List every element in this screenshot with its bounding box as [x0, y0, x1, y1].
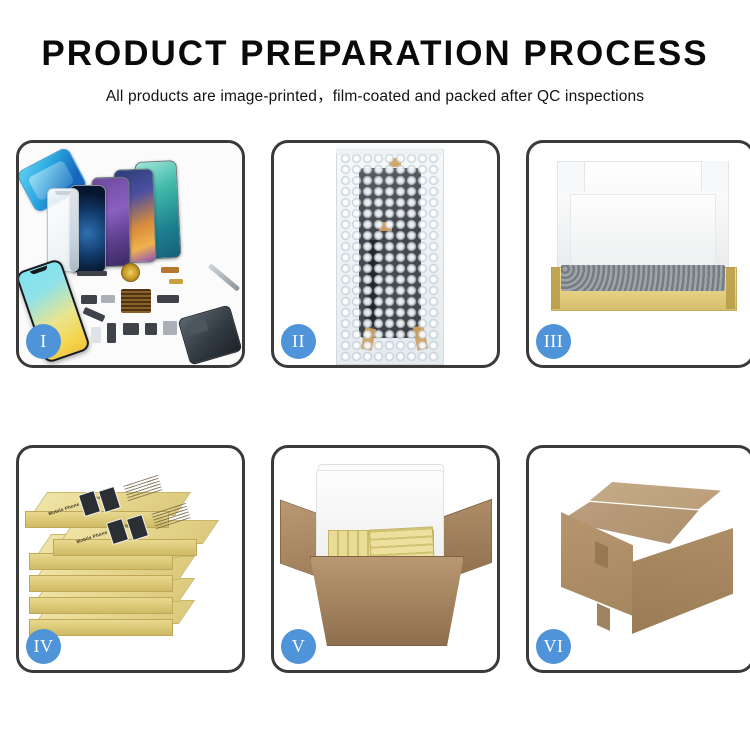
box-front-face: [29, 575, 173, 592]
process-steps-grid: I II: [16, 140, 738, 690]
part-strip-1: [77, 271, 107, 276]
part-connector-2: [169, 279, 183, 284]
bubble-texture: [340, 153, 440, 361]
retail-box-stack: Mobile Phone Spare Parts Mobile Phone Sp…: [33, 474, 233, 650]
step-panel-5: V: [271, 445, 500, 673]
part-flex-2: [157, 295, 179, 303]
part-camera: [123, 323, 139, 335]
step-badge-3: III: [536, 324, 571, 359]
sealed-carton: [543, 482, 739, 632]
box-front-face: [25, 511, 169, 528]
step-panel-6: VI: [526, 445, 750, 673]
step-badge-4: IV: [26, 629, 61, 664]
part-button: [145, 323, 157, 335]
spare-parts-layout: [77, 261, 237, 361]
box-front-face: [53, 539, 197, 556]
bubble-wrapped-contents: [561, 265, 725, 291]
part-sim-tray: [91, 327, 101, 343]
logic-board-part: [121, 289, 151, 313]
step-badge-1: I: [26, 324, 61, 359]
page-subtitle: All products are image-printed，film-coat…: [0, 84, 750, 106]
part-module-2: [101, 295, 115, 303]
carton-right-face: [632, 528, 733, 634]
step-panel-4: Mobile Phone Spare Parts Mobile Phone Sp…: [16, 445, 245, 673]
step-panel-1: I: [16, 140, 245, 368]
product-preparation-infographic: PRODUCT PREPARATION PROCESS All products…: [0, 0, 750, 750]
inner-box-corner-left: [551, 267, 560, 309]
bubble-wrap-bag: [336, 149, 444, 365]
tweezers-tool: [208, 263, 240, 291]
step-badge-6: VI: [536, 629, 571, 664]
part-flex-1: [83, 307, 106, 322]
part-connector-1: [161, 267, 179, 273]
outer-carton-open: [310, 556, 464, 646]
phone-back-housing: [177, 304, 242, 365]
part-flex-3: [107, 323, 116, 343]
step-badge-5: V: [281, 629, 316, 664]
part-module-1: [81, 295, 97, 304]
speaker-coil-part: [121, 263, 140, 282]
step-badge-2: II: [281, 324, 316, 359]
carton-tape-2: [597, 603, 610, 631]
inner-box-corner-right: [726, 267, 735, 309]
inner-box-lid-flap-right: [701, 161, 728, 191]
box-front-face: [29, 597, 173, 614]
step-panel-2: II: [271, 140, 500, 368]
part-vibrator: [163, 321, 177, 335]
header: PRODUCT PREPARATION PROCESS All products…: [0, 36, 750, 106]
step-panel-3: III: [526, 140, 750, 368]
bag-seal-top: [336, 143, 442, 155]
page-title: PRODUCT PREPARATION PROCESS: [0, 36, 750, 73]
